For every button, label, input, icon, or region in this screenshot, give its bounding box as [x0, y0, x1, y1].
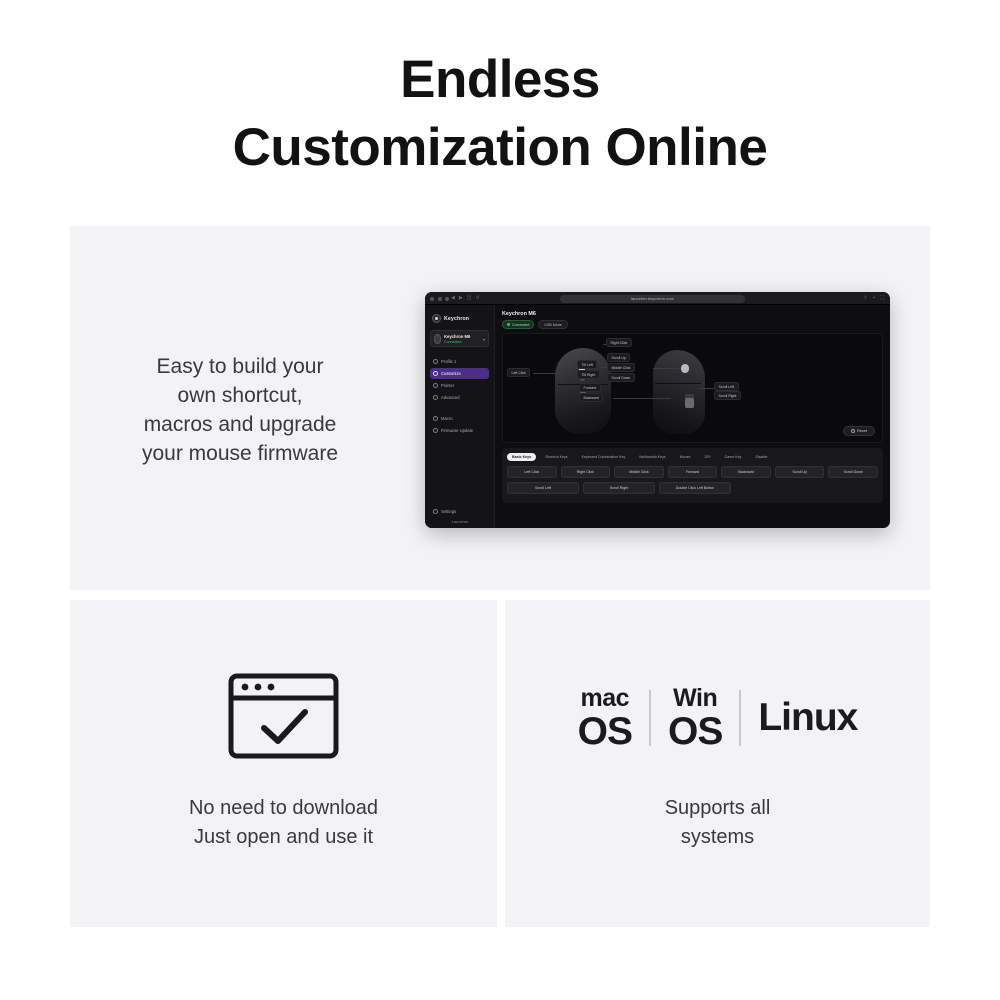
browser-url-bar[interactable]: launcher.keychron.com	[560, 295, 745, 303]
caption-os-support: Supports all systems	[505, 794, 930, 852]
os-divider	[739, 690, 741, 746]
caption-line-1: No need to download	[70, 794, 497, 823]
os-windows-prefix: Win	[673, 686, 717, 711]
nav-divider	[430, 404, 489, 412]
profile-icon	[433, 359, 438, 364]
chevron-down-icon[interactable]: ▾	[483, 337, 485, 342]
callout-scroll-left: Scroll Left	[714, 382, 739, 391]
feature-description-line-4: your mouse firmware	[95, 439, 385, 468]
main-title: Keychron M6	[502, 311, 883, 317]
caption-no-download: No need to download Just open and use it	[70, 794, 497, 852]
firmware-icon	[433, 428, 438, 433]
key-row-2: Scroll Left Scroll Right Double Click Le…	[507, 482, 878, 494]
mouse-seam	[655, 383, 701, 384]
callout-lead	[533, 373, 561, 374]
key-assignment-panel: Basic Keys Shortcut Keys Keyboard Combin…	[502, 448, 883, 503]
macro-icon	[433, 416, 438, 421]
key-category-tabs: Basic Keys Shortcut Keys Keyboard Combin…	[507, 453, 878, 461]
launcher-app-screenshot: ◀ ▶ ◫ ↺ launcher.keychron.com ⇧ + ⛶ Keyc…	[425, 292, 890, 528]
browser-window-check-icon	[227, 672, 340, 760]
new-tab-icon[interactable]: +	[873, 296, 876, 301]
reset-icon	[851, 429, 855, 433]
scroll-wheel-icon	[681, 364, 689, 373]
sidebar-item-advanced[interactable]: Advanced	[430, 392, 489, 403]
sidebar-item-label: Customize	[441, 371, 461, 376]
mouse-icon	[434, 334, 441, 344]
device-name: Keychron M6	[444, 334, 470, 339]
os-linux: Linux	[758, 696, 857, 740]
customize-icon	[433, 371, 438, 376]
os-macos: mac OS	[578, 686, 632, 751]
key-button[interactable]: Scroll Left	[507, 482, 579, 494]
feature-description-line-2: own shortcut,	[95, 381, 385, 410]
connection-status-badge: Connected	[502, 320, 534, 329]
os-windows-suffix: OS	[668, 712, 722, 751]
app-sidebar: Keychron Keychron M6 Connected ▾ Profile…	[425, 305, 495, 528]
callout-scroll-right: Scroll Right	[714, 391, 741, 400]
gear-icon	[433, 509, 438, 514]
tab-keyboard-combination-key[interactable]: Keyboard Combination Key	[577, 453, 631, 461]
feature-description-line-3: macros and upgrade	[95, 410, 385, 439]
sidebar-item-customize[interactable]: Customize	[430, 368, 489, 379]
callout-middle-click: Middle Click	[607, 363, 635, 372]
promo-page: Endless Customization Online Easy to bui…	[0, 0, 1000, 1000]
maximize-dot[interactable]	[445, 297, 449, 301]
tabs-icon[interactable]: ⛶	[880, 296, 884, 301]
key-button[interactable]: Forward	[668, 466, 718, 478]
tab-multimedia-keys[interactable]: Multimedia Keys	[634, 453, 670, 461]
key-button[interactable]: Scroll Down	[828, 466, 878, 478]
url-text: launcher.keychron.com	[631, 296, 674, 301]
os-macos-suffix: OS	[578, 712, 632, 751]
caption-line-2: systems	[505, 823, 930, 852]
sidebar-icon[interactable]: ◫	[467, 296, 472, 301]
brand: Keychron	[432, 314, 489, 323]
close-dot[interactable]	[430, 297, 434, 301]
main-header: Keychron M6 Connected USB Mode	[502, 311, 883, 329]
key-button[interactable]: Backward	[721, 466, 771, 478]
callout-right-click: Right Click	[606, 338, 632, 347]
sidebar-item-macro[interactable]: Macro	[430, 413, 489, 424]
caption-line-1: Supports all	[505, 794, 930, 823]
device-status: Connected	[444, 340, 470, 344]
sidebar-item-profile[interactable]: Profile 1	[430, 356, 489, 367]
callout-lead	[613, 398, 671, 399]
callout-tilt-right: Tilt Right	[577, 370, 600, 379]
app-main: Keychron M6 Connected USB Mode	[495, 305, 890, 528]
browser-right-icons[interactable]: ⇧ + ⛶	[863, 296, 884, 301]
forward-icon[interactable]: ▶	[459, 296, 463, 301]
connection-row: Connected USB Mode	[502, 320, 883, 329]
advanced-icon	[433, 395, 438, 400]
feature-card-no-download	[70, 600, 497, 927]
sidebar-item-pointer[interactable]: Pointer	[430, 380, 489, 391]
page-title-line-1: Endless	[0, 46, 1000, 114]
back-icon[interactable]: ◀	[451, 296, 455, 301]
browser-titlebar: ◀ ▶ ◫ ↺ launcher.keychron.com ⇧ + ⛶	[425, 292, 890, 305]
callout-lead	[699, 388, 715, 389]
os-macos-prefix: mac	[581, 686, 630, 711]
sidebar-item-label: Macro	[441, 416, 453, 421]
tab-shortcut-keys[interactable]: Shortcut Keys	[540, 453, 572, 461]
sidebar-footer: Settings Launcher	[430, 506, 490, 524]
callout-lead	[653, 368, 679, 369]
os-windows: Win OS	[668, 686, 722, 751]
reset-button[interactable]: Reset	[843, 426, 875, 436]
tab-game-key[interactable]: Game Key	[719, 453, 746, 461]
sidebar-item-settings[interactable]: Settings	[430, 506, 490, 516]
tab-dpi[interactable]: DPI	[699, 453, 715, 461]
pointer-icon	[433, 383, 438, 388]
feature-description-line-1: Easy to build your	[95, 352, 385, 381]
brand-name: Keychron	[444, 316, 469, 322]
key-button[interactable]: Scroll Up	[775, 466, 825, 478]
app-body: Keychron Keychron M6 Connected ▾ Profile…	[425, 305, 890, 528]
window-traffic-lights[interactable]	[430, 297, 449, 301]
tab-mouse[interactable]: Mouse	[675, 453, 696, 461]
side-buttons-icon	[685, 394, 694, 408]
browser-nav-icons[interactable]: ◀ ▶ ◫ ↺	[451, 296, 480, 301]
os-divider	[649, 690, 651, 746]
sidebar-item-label: Firmware Update	[441, 428, 473, 433]
device-info: Keychron M6 Connected	[444, 334, 470, 344]
sidebar-item-firmware-update[interactable]: Firmware Update	[430, 425, 489, 436]
feature-description: Easy to build your own shortcut, macros …	[95, 352, 385, 468]
mouse-diagram: Right Click Left Click Scroll Up Middle …	[502, 333, 883, 443]
sidebar-item-label: Settings	[441, 509, 456, 514]
key-button[interactable]: Left Click	[507, 466, 557, 478]
page-title-line-2: Customization Online	[0, 114, 1000, 182]
connection-mode-badge: USB Mode	[538, 320, 567, 329]
feature-card-os-support	[505, 600, 930, 927]
callout-backward: Backward	[579, 393, 603, 402]
caption-line-2: Just open and use it	[70, 823, 497, 852]
status-dot-icon	[507, 323, 510, 326]
sidebar-item-label: Advanced	[441, 395, 460, 400]
key-button[interactable]: Double Click Left Button	[659, 482, 731, 494]
reload-icon[interactable]: ↺	[475, 296, 479, 301]
callout-scroll-up: Scroll Up	[607, 353, 630, 362]
minimize-dot[interactable]	[438, 297, 442, 301]
device-selector[interactable]: Keychron M6 Connected ▾	[430, 330, 489, 347]
sidebar-item-label: Pointer	[441, 383, 454, 388]
os-logos: mac OS Win OS Linux	[505, 678, 930, 758]
callout-scroll-down: Scroll Down	[607, 373, 635, 382]
connection-status-text: Connected	[512, 323, 529, 327]
share-icon[interactable]: ⇧	[863, 296, 867, 301]
sidebar-item-label: Profile 1	[441, 359, 456, 364]
key-button[interactable]: Middle Click	[614, 466, 664, 478]
mouse-side-view	[653, 350, 705, 434]
reset-button-label: Reset	[857, 429, 867, 433]
key-button[interactable]: Right Click	[561, 466, 611, 478]
tab-disable[interactable]: Disable	[750, 453, 772, 461]
callout-forward: Forward	[579, 383, 601, 392]
key-button[interactable]: Scroll Right	[583, 482, 655, 494]
sidebar-footer-label: Launcher	[430, 519, 490, 524]
callout-tilt-left: Tilt Left	[577, 360, 597, 369]
sidebar-nav: Profile 1 Customize Pointer Advanced	[430, 356, 489, 436]
callout-left-click: Left Click	[507, 368, 530, 377]
keychron-logo-icon	[432, 314, 441, 323]
tab-basic-keys[interactable]: Basic Keys	[507, 453, 536, 461]
key-row-1: Left Click Right Click Middle Click Forw…	[507, 466, 878, 478]
page-title: Endless Customization Online	[0, 46, 1000, 182]
